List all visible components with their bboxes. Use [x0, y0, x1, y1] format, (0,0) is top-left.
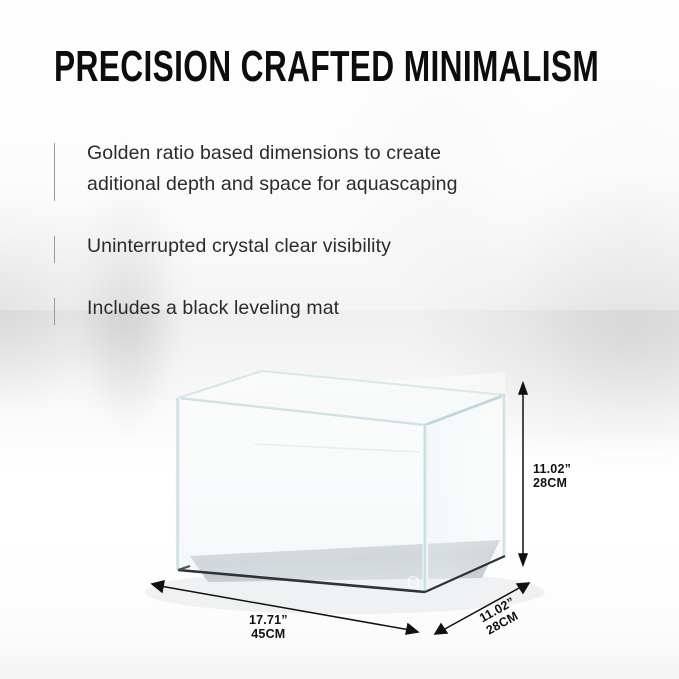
dimension-arrow-height [519, 383, 527, 565]
glass-edge-back-right-vertical [502, 395, 507, 556]
brand-logo-icon: ʘ [406, 573, 420, 593]
dimension-label-width: 17.71” 45CM [249, 613, 288, 641]
aquarium-tank-svg: ʘ [0, 0, 679, 679]
glass-edge-front-right-vertical [423, 425, 429, 592]
glass-edge-left-vertical [176, 398, 181, 570]
product-illustration: ʘ [0, 0, 679, 679]
product-feature-card: PRECISION CRAFTED MINIMALISM Golden rati… [0, 0, 679, 679]
tank-front-panel [178, 398, 425, 592]
dimension-label-height: 11.02” 28CM [533, 462, 571, 490]
